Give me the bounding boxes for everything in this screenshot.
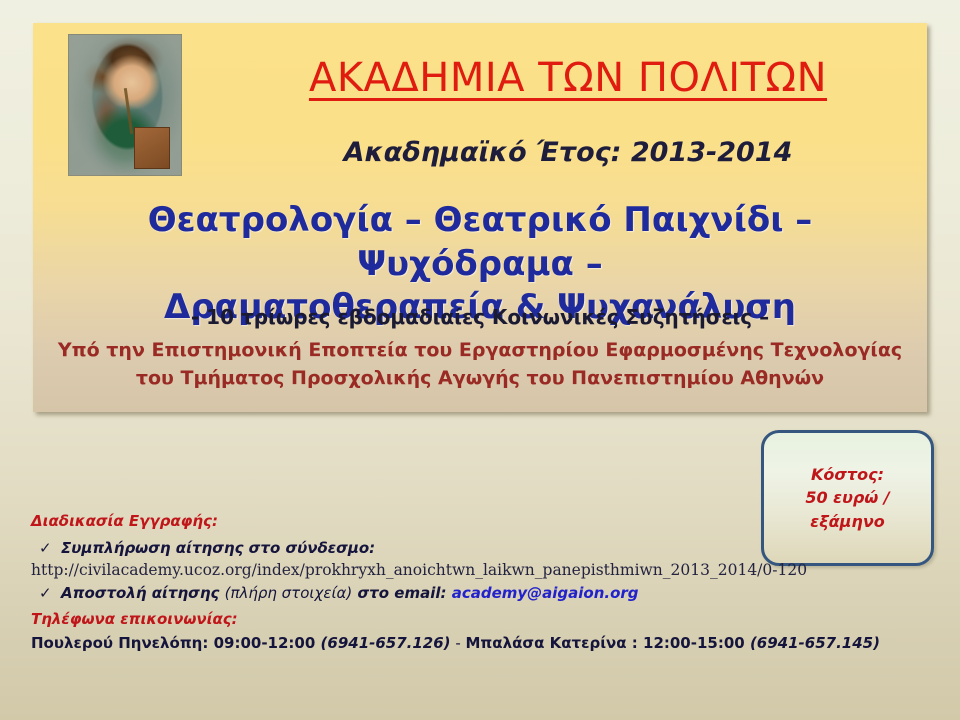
contacts-heading: Τηλέφωνα επικοινωνίας: bbox=[31, 610, 931, 628]
registration-step-2-part1: Αποστολή αίτησης bbox=[61, 584, 225, 602]
list-item: ✓ Αποστολή αίτησης (πλήρη στοιχεία) στο … bbox=[31, 584, 931, 602]
course-subtitle: - 10 τρίωρες εβδομαδιαίες Κοινωνικές Συζ… bbox=[55, 305, 905, 329]
wax-tablet-shape bbox=[134, 127, 170, 169]
slide-root: ΑΚΑΔΗΜΙΑ ΤΩΝ ΠΟΛΙΤΩΝ Ακαδημαϊκό Έτος: 20… bbox=[0, 0, 960, 720]
page-title: ΑΚΑΔΗΜΙΑ ΤΩΝ ΠΟΛΙΤΩΝ bbox=[218, 55, 918, 101]
check-icon: ✓ bbox=[31, 584, 61, 602]
cost-amount: 50 ευρώ / bbox=[805, 486, 889, 509]
contacts-separator: - bbox=[451, 634, 466, 652]
header-banner: ΑΚΑΔΗΜΙΑ ΤΩΝ ΠΟΛΙΤΩΝ Ακαδημαϊκό Έτος: 20… bbox=[33, 23, 927, 412]
academic-year-label: Ακαδημαϊκό Έτος: 2013-2014 bbox=[218, 137, 918, 168]
course-title-line-1: Θεατρολογία – Θεατρικό Παιχνίδι – Ψυχόδρ… bbox=[55, 199, 905, 286]
supervision-line-1: Υπό την Επιστημονική Εποπτεία του Εργαστ… bbox=[55, 337, 905, 365]
supervision-text: Υπό την Επιστημονική Εποπτεία του Εργαστ… bbox=[55, 337, 905, 392]
contact-person-2-phone: (6941-657.145) bbox=[750, 634, 880, 652]
registration-heading: Διαδικασία Εγγραφής: bbox=[31, 512, 931, 530]
registration-step-2-text: Αποστολή αίτησης (πλήρη στοιχεία) στο em… bbox=[61, 584, 639, 602]
sappho-fresco-portrait-image bbox=[68, 34, 182, 176]
check-icon: ✓ bbox=[31, 539, 61, 557]
stylus-shape bbox=[124, 88, 133, 134]
contact-person-1-phone: (6941-657.126) bbox=[321, 634, 451, 652]
registration-block: Διαδικασία Εγγραφής: ✓ Συμπλήρωση αίτηση… bbox=[31, 512, 931, 652]
contacts-line: Πουλερού Πηνελόπη: 09:00-12:00 (6941-657… bbox=[31, 634, 931, 652]
registration-step-2-paren: (πλήρη στοιχεία) bbox=[225, 584, 353, 602]
cost-label: Κόστος: bbox=[811, 463, 884, 486]
contact-person-1-name: Πουλερού Πηνελόπη: 09:00-12:00 bbox=[31, 634, 321, 652]
registration-email-link[interactable]: academy@aigaion.org bbox=[452, 584, 639, 602]
list-item: ✓ Συμπλήρωση αίτησης στο σύνδεσμο: bbox=[31, 539, 931, 557]
registration-step-1-text: Συμπλήρωση αίτησης στο σύνδεσμο: bbox=[61, 539, 375, 557]
supervision-line-2: του Τμήματος Προσχολικής Αγωγής του Πανε… bbox=[55, 365, 905, 393]
registration-step-2-part2: στο email: bbox=[352, 584, 451, 602]
registration-url[interactable]: http://civilacademy.ucoz.org/index/prokh… bbox=[31, 561, 931, 579]
contact-person-2-name: Μπαλάσα Κατερίνα : 12:00-15:00 bbox=[466, 634, 750, 652]
